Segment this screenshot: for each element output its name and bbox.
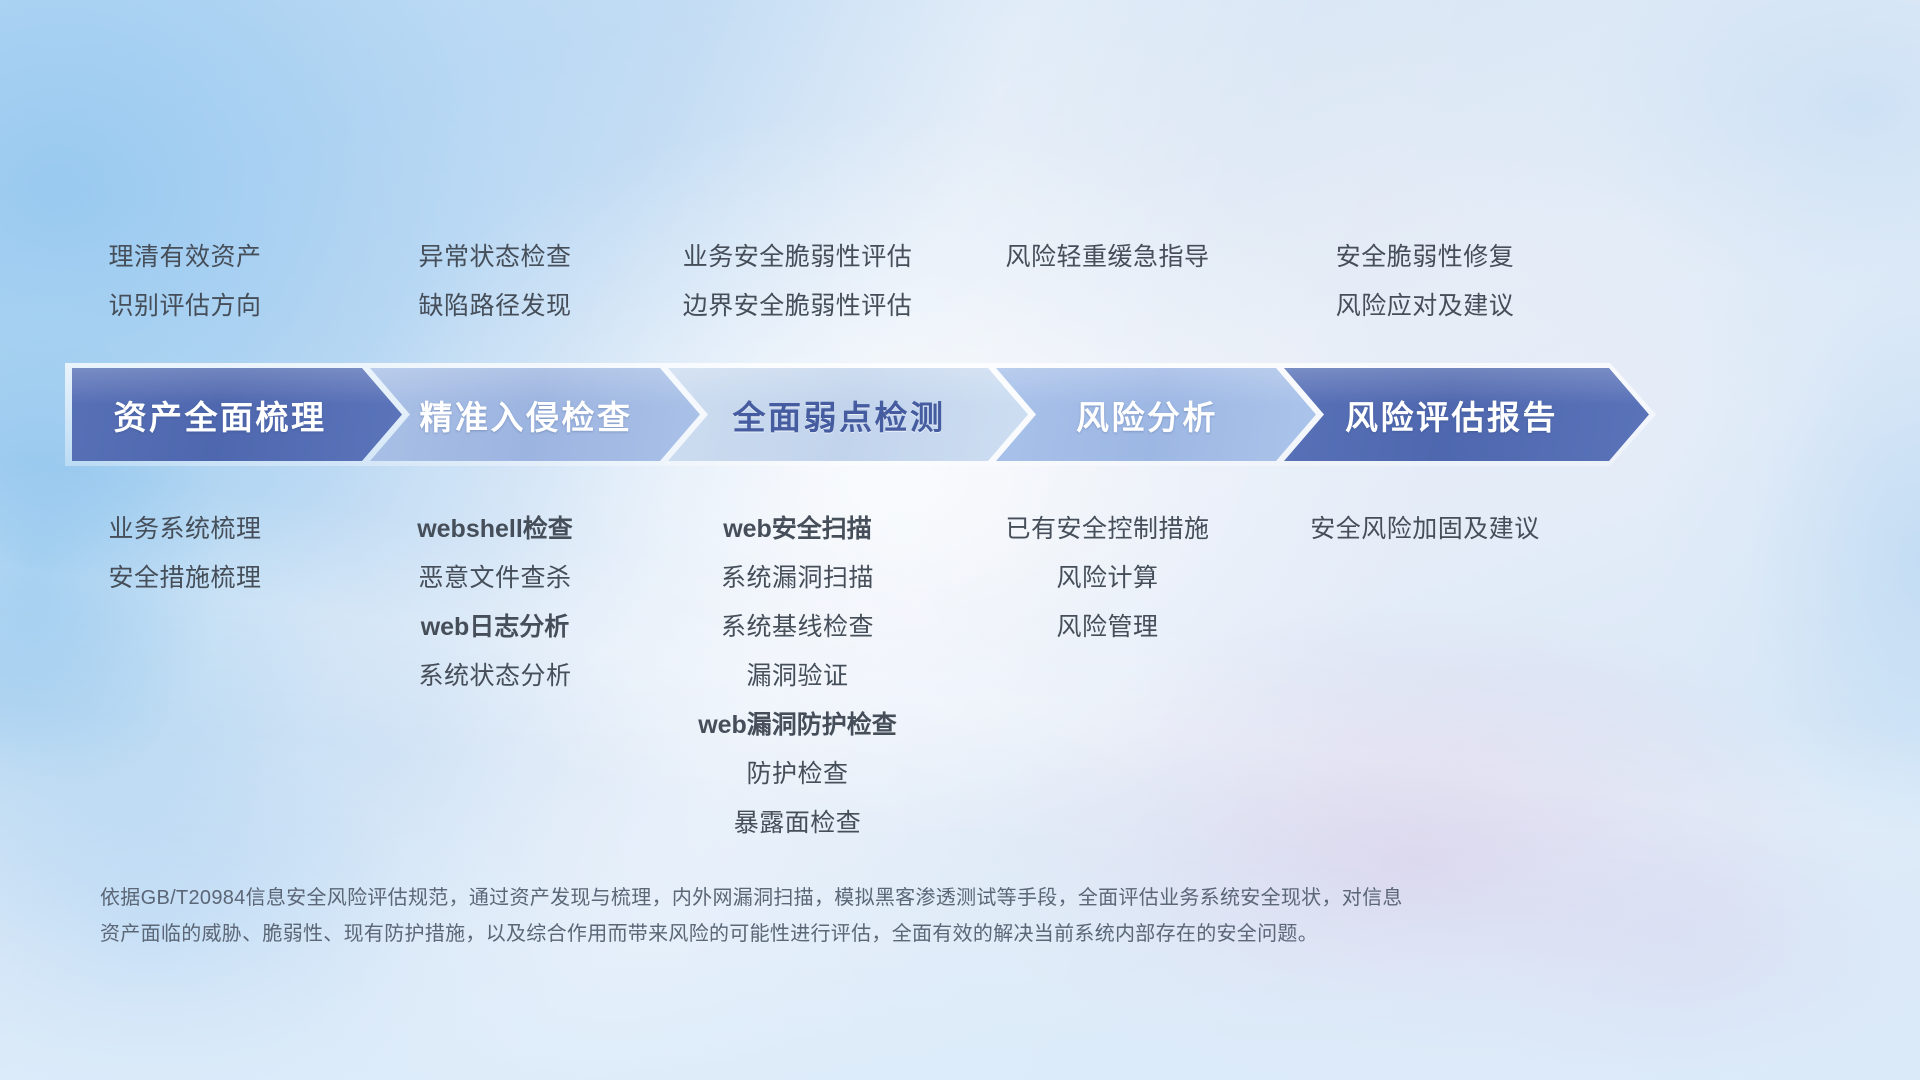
footer-description: 依据GB/T20984信息安全风险评估规范，通过资产发现与梳理，内外网漏洞扫描，… xyxy=(100,880,1660,952)
chevron-stage-intrusion-check[interactable]: 精准入侵检查 xyxy=(370,368,700,461)
top-descriptor-row: 理清有效资产 识别评估方向 异常状态检查 缺陷路径发现 业务安全脆弱性评估 边界… xyxy=(0,233,1920,331)
chevron-stage-asset-inventory[interactable]: 资产全面梳理 xyxy=(72,368,402,461)
bottom-item: 风险管理 xyxy=(955,603,1260,652)
top-item: 识别评估方向 xyxy=(20,282,350,331)
bottom-column-asset-inventory: 业务系统梳理 安全措施梳理 xyxy=(20,505,350,848)
bottom-column-weakness-detection: web安全扫描 系统漏洞扫描 系统基线检查 漏洞验证 web漏洞防护检查 防护检… xyxy=(640,505,955,848)
bottom-item: 风险计算 xyxy=(955,554,1260,603)
slide-canvas: 理清有效资产 识别评估方向 异常状态检查 缺陷路径发现 业务安全脆弱性评估 边界… xyxy=(0,0,1920,1080)
top-item: 业务安全脆弱性评估 xyxy=(640,233,955,282)
footer-line-2: 资产面临的威胁、脆弱性、现有防护措施，以及综合作用而带来风险的可能性进行评估，全… xyxy=(100,916,1660,952)
chevron-label-intrusion-check: 精准入侵检查 xyxy=(370,391,700,439)
top-column-risk-report: 安全脆弱性修复 风险应对及建议 xyxy=(1260,233,1590,331)
top-item: 安全脆弱性修复 xyxy=(1260,233,1590,282)
bottom-column-risk-report: 安全风险加固及建议 xyxy=(1260,505,1590,848)
bottom-item: web日志分析 xyxy=(350,603,640,652)
footer-line-1: 依据GB/T20984信息安全风险评估规范，通过资产发现与梳理，内外网漏洞扫描，… xyxy=(100,880,1660,916)
process-chevron-band: 资产全面梳理精准入侵检查全面弱点检测风险分析风险评估报告 xyxy=(72,368,1847,461)
top-item: 理清有效资产 xyxy=(20,233,350,282)
bottom-item: 安全措施梳理 xyxy=(20,554,350,603)
bottom-item: 已有安全控制措施 xyxy=(955,505,1260,554)
top-column-intrusion-check: 异常状态检查 缺陷路径发现 xyxy=(350,233,640,331)
bottom-item: 系统漏洞扫描 xyxy=(640,554,955,603)
chevron-label-weakness-detection: 全面弱点检测 xyxy=(668,391,1028,439)
top-column-risk-analysis: 风险轻重缓急指导 xyxy=(955,233,1260,331)
top-item: 风险应对及建议 xyxy=(1260,282,1590,331)
chevron-stage-risk-report[interactable]: 风险评估报告 xyxy=(1284,368,1649,461)
top-item: 风险轻重缓急指导 xyxy=(955,233,1260,282)
bottom-column-risk-analysis: 已有安全控制措施 风险计算 风险管理 xyxy=(955,505,1260,848)
bottom-item: web安全扫描 xyxy=(640,505,955,554)
top-item: 异常状态检查 xyxy=(350,233,640,282)
bottom-item: webshell检查 xyxy=(350,505,640,554)
bottom-item: 恶意文件查杀 xyxy=(350,554,640,603)
top-item: 边界安全脆弱性评估 xyxy=(640,282,955,331)
chevron-label-asset-inventory: 资产全面梳理 xyxy=(72,391,402,439)
bottom-item: 安全风险加固及建议 xyxy=(1260,505,1590,554)
top-column-asset-inventory: 理清有效资产 识别评估方向 xyxy=(20,233,350,331)
bottom-item: 漏洞验证 xyxy=(640,652,955,701)
top-item: 缺陷路径发现 xyxy=(350,282,640,331)
bottom-item: 防护检查 xyxy=(640,750,955,799)
top-column-weakness-detection: 业务安全脆弱性评估 边界安全脆弱性评估 xyxy=(640,233,955,331)
bottom-item: 暴露面检查 xyxy=(640,799,955,848)
chevron-stage-weakness-detection[interactable]: 全面弱点检测 xyxy=(668,368,1028,461)
bottom-item: web漏洞防护检查 xyxy=(640,701,955,750)
chevron-label-risk-report: 风险评估报告 xyxy=(1284,391,1649,439)
bottom-descriptor-row: 业务系统梳理 安全措施梳理 webshell检查 恶意文件查杀 web日志分析 … xyxy=(0,505,1920,848)
chevron-label-risk-analysis: 风险分析 xyxy=(996,391,1316,439)
bottom-item: 系统基线检查 xyxy=(640,603,955,652)
bottom-column-intrusion-check: webshell检查 恶意文件查杀 web日志分析 系统状态分析 xyxy=(350,505,640,848)
bottom-item: 业务系统梳理 xyxy=(20,505,350,554)
chevron-stage-risk-analysis[interactable]: 风险分析 xyxy=(996,368,1316,461)
bottom-item: 系统状态分析 xyxy=(350,652,640,701)
